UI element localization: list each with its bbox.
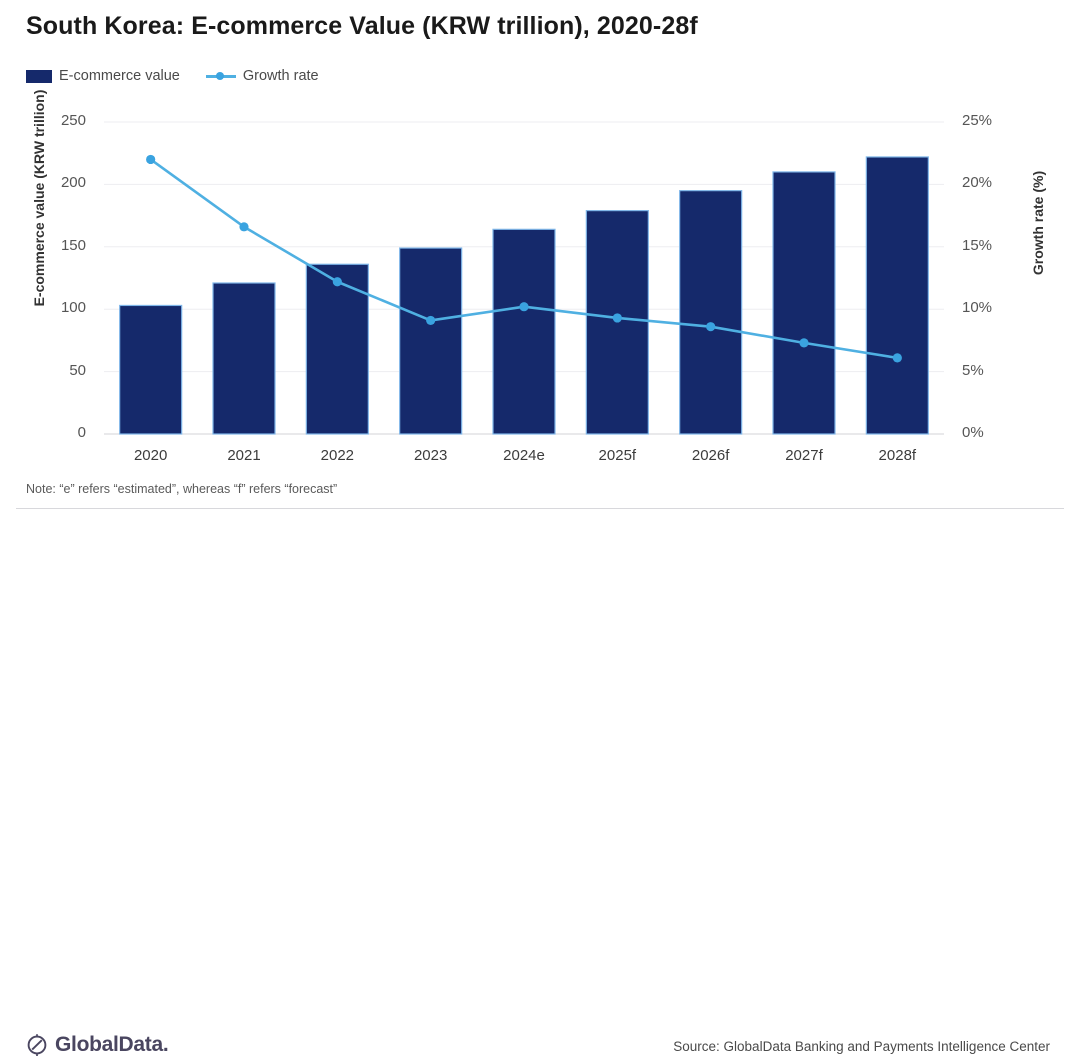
x-label-2021: 2021 <box>199 447 289 464</box>
brand-logo: GlobalData. <box>26 1033 168 1057</box>
bar-series <box>120 157 929 434</box>
x-label-2028f: 2028f <box>852 447 942 464</box>
chart-note: Note: “e” refers “estimated”, whereas “f… <box>26 482 337 496</box>
x-label-2022: 2022 <box>292 447 382 464</box>
globaldata-circle-slash-icon <box>26 1033 48 1057</box>
x-label-2020: 2020 <box>106 447 196 464</box>
y-axis-left-title: E-commerce value (KRW trillion) <box>31 73 47 323</box>
line-point-2020 <box>146 155 155 164</box>
bar-2027f <box>773 172 835 434</box>
y-tick-right-15pct: 15% <box>962 237 1022 254</box>
line-point-2026f <box>706 322 715 331</box>
plot-area: E-commerce value (KRW trillion) Growth r… <box>0 0 1080 470</box>
bar-2023 <box>400 248 462 434</box>
y-tick-left-100: 100 <box>26 299 86 316</box>
y-tick-right-5pct: 5% <box>962 362 1022 379</box>
brand-name: GlobalData. <box>55 1033 168 1057</box>
y-tick-right-0pct: 0% <box>962 424 1022 441</box>
bar-2024e <box>493 229 555 434</box>
y-tick-left-0: 0 <box>26 424 86 441</box>
x-label-2027f: 2027f <box>759 447 849 464</box>
chart-page: South Korea: E-commerce Value (KRW trill… <box>0 0 1080 563</box>
line-point-2024e <box>519 302 528 311</box>
y-tick-right-20pct: 20% <box>962 174 1022 191</box>
bar-2026f <box>680 191 742 434</box>
line-point-2023 <box>426 316 435 325</box>
line-point-2028f <box>893 353 902 362</box>
y-tick-right-25pct: 25% <box>962 112 1022 129</box>
source-text: Source: GlobalData Banking and Payments … <box>673 1039 1050 1054</box>
bar-2021 <box>213 283 275 434</box>
x-label-2026f: 2026f <box>666 447 756 464</box>
x-label-2025f: 2025f <box>572 447 662 464</box>
y-axis-right-title: Growth rate (%) <box>1030 133 1046 313</box>
line-point-2025f <box>613 313 622 322</box>
y-tick-left-200: 200 <box>26 174 86 191</box>
bar-2028f <box>866 157 928 434</box>
y-tick-right-10pct: 10% <box>962 299 1022 316</box>
line-point-2022 <box>333 277 342 286</box>
bar-2020 <box>120 305 182 434</box>
y-tick-left-250: 250 <box>26 112 86 129</box>
x-label-2023: 2023 <box>386 447 476 464</box>
chart-canvas <box>0 0 1080 470</box>
y-tick-left-150: 150 <box>26 237 86 254</box>
y-tick-left-50: 50 <box>26 362 86 379</box>
line-point-2027f <box>799 338 808 347</box>
line-point-2021 <box>239 222 248 231</box>
x-label-2024e: 2024e <box>479 447 569 464</box>
footer-bar: GlobalData. Source: GlobalData Banking a… <box>0 509 1080 563</box>
